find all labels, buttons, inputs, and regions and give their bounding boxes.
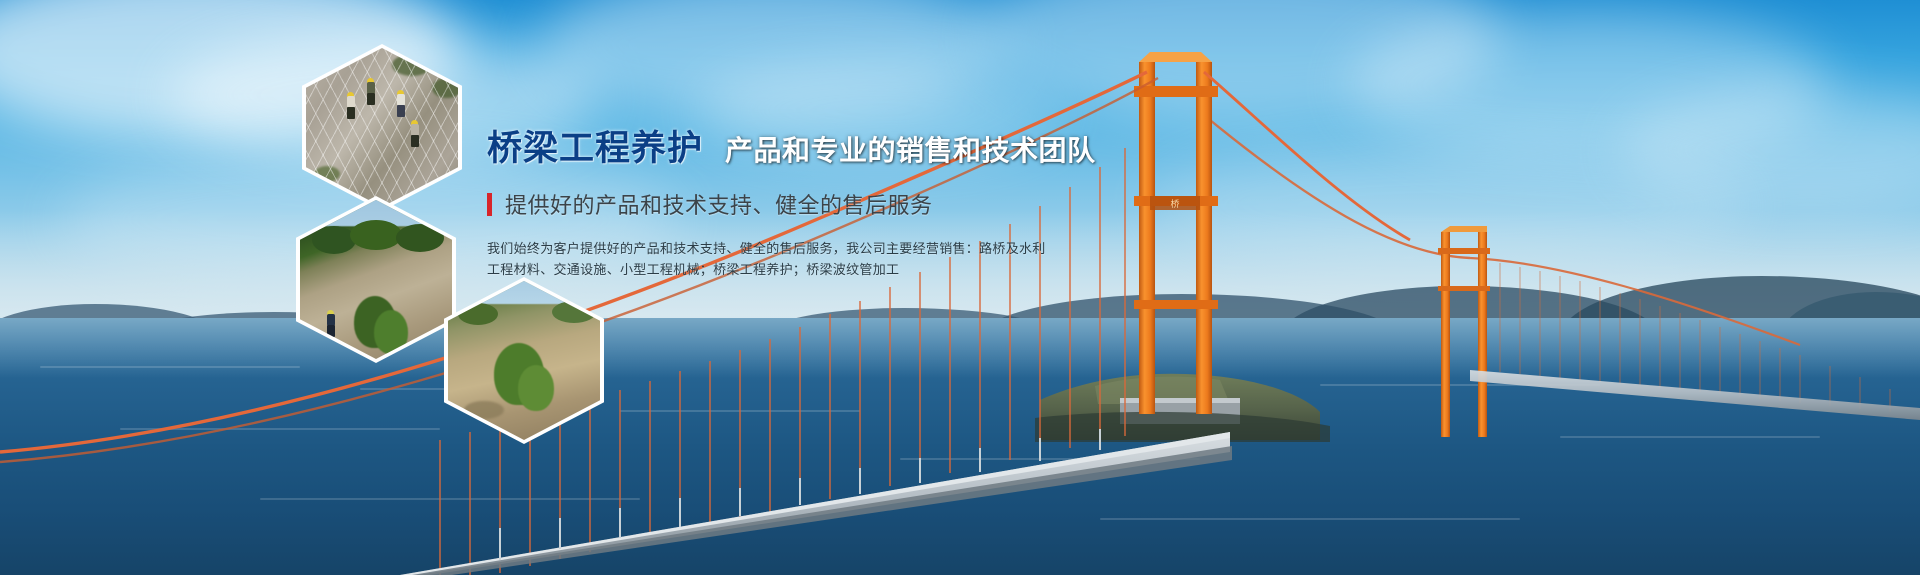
subheadline-text: 提供好的产品和技术支持、健全的售后服务	[505, 188, 933, 220]
svg-text:桥: 桥	[1170, 198, 1179, 210]
hex-image-slope-mesh-installation-workers	[302, 44, 462, 211]
hero-banner: 桥	[0, 0, 1920, 575]
steel-mesh-overlay	[306, 48, 458, 207]
suspension-bridge: 桥	[0, 0, 1920, 575]
banner-description: 我们始终为客户提供好的产品和技术支持、健全的售后服务，我公司主要经营销售：路桥及…	[487, 238, 1127, 280]
headline: 桥梁工程养护 产品和专业的销售和技术团队	[487, 120, 1127, 171]
description-line: 工程材料、交通设施、小型工程机械；桥梁工程养护；桥梁波纹管加工	[487, 259, 1127, 280]
bridge-tower-main: 桥	[1134, 52, 1218, 414]
headline-main: 桥梁工程养护	[487, 120, 703, 171]
subheadline: 提供好的产品和技术支持、健全的售后服务	[487, 188, 1127, 220]
banner-copy: 桥梁工程养护 产品和专业的销售和技术团队 提供好的产品和技术支持、健全的售后服务…	[487, 120, 1127, 280]
description-line: 我们始终为客户提供好的产品和技术支持、健全的售后服务，我公司主要经营销售：路桥及…	[487, 238, 1127, 259]
accent-bar-icon	[487, 193, 492, 216]
headline-sub: 产品和专业的销售和技术团队	[725, 129, 1096, 169]
hex-image-hillside-slope-protection-net	[296, 196, 456, 363]
